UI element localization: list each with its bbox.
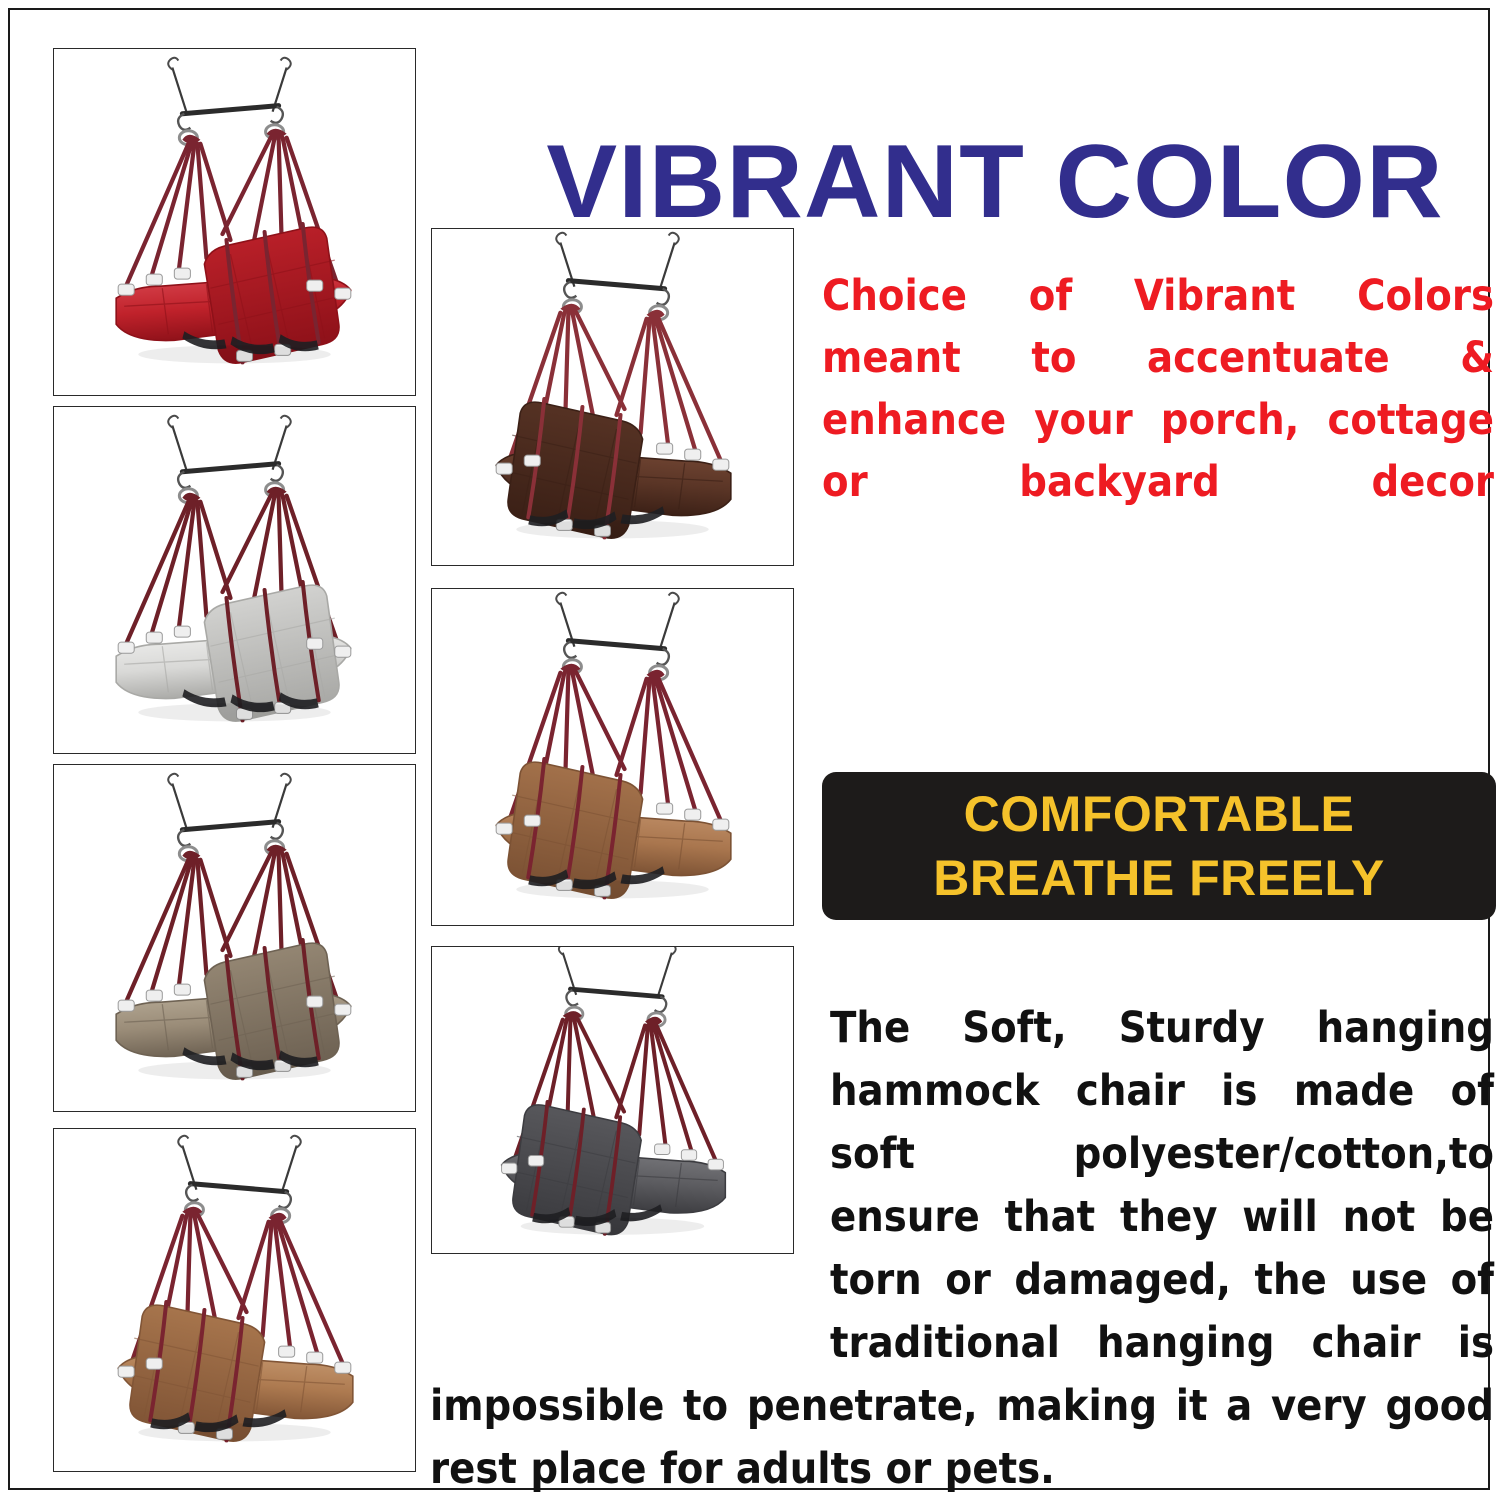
banner-line-2: BREATHE FREELY [933,846,1385,910]
product-photo-chair-brown[interactable] [431,228,794,566]
product-photo-chair-taupe[interactable] [53,764,416,1112]
comfort-banner: COMFORTABLE BREATHE FREELY [822,772,1496,920]
product-description: The Soft, Sturdy hanging hammock chair i… [430,997,1494,1501]
infographic-frame: VIBRANT COLOR Choice of Vibrant Colors m… [8,8,1490,1490]
vibrant-color-description: Choice of Vibrant Colors meant to accent… [822,265,1494,513]
text-wrap-spacer [430,997,830,1317]
page-title: VIBRANT COLOR [500,122,1489,242]
banner-line-1: COMFORTABLE [964,782,1355,846]
product-photo-chair-white[interactable] [53,406,416,754]
chair-red-illustration [54,49,415,395]
chair-camel-illustration [432,589,793,925]
product-photo-chair-camel[interactable] [431,588,794,926]
chair-taupe-illustration [54,765,415,1111]
chair-brown-illustration [432,229,793,565]
product-photo-chair-red[interactable] [53,48,416,396]
product-photo-chair-tan[interactable] [53,1128,416,1472]
chair-tan-illustration [54,1129,415,1471]
chair-white-illustration [54,407,415,753]
